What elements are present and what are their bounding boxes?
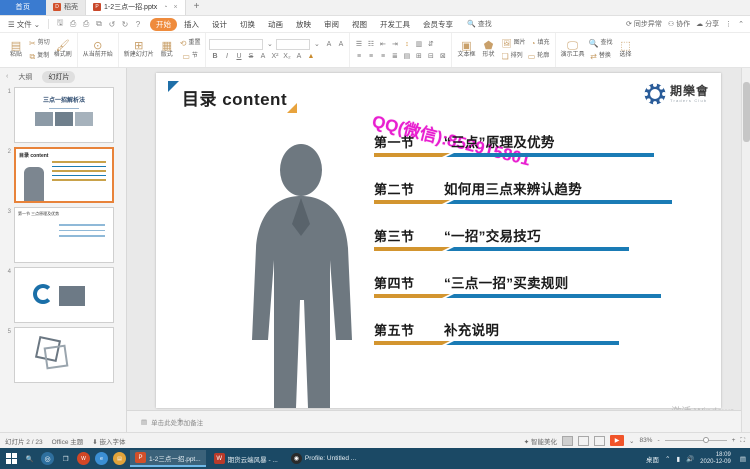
columns-icon[interactable]: ▥: [413, 39, 424, 50]
tab-developer[interactable]: 开发工具: [374, 18, 416, 31]
select-icon: ⬚: [620, 40, 630, 52]
superscript-button[interactable]: X²: [269, 51, 280, 62]
clipboard-group: ▤ 粘贴 ✂ 剪切 ⧉ 复制 🖌 格式刷: [2, 33, 77, 67]
layout-label: 版式: [161, 52, 173, 60]
notifications-icon[interactable]: ▤: [740, 455, 746, 463]
play-from-current-icon: ⊙: [93, 40, 102, 52]
tools-group: 🖵 演示工具 🔍 查找 ⇄ 替换 ⬚ 选择: [555, 33, 640, 67]
section-icon: ▭: [182, 51, 190, 63]
present-tools-label: 演示工具: [561, 52, 585, 60]
subscript-button[interactable]: X₂: [281, 51, 292, 62]
reset-button[interactable]: ⟲ 重置: [178, 38, 203, 50]
folder-pin-icon[interactable]: ▤: [112, 451, 127, 466]
windows-taskbar: 🔍 ◎ ❐ W e ▤ P 1-2三点一招.ppt... W 期货云端风暴 - …: [0, 448, 750, 469]
slide-title[interactable]: 目录 content: [182, 85, 287, 110]
toc-item[interactable]: 第四节 “三点一招”买卖规则: [374, 272, 704, 319]
brand-logo: 期樂會 Traders Club: [644, 83, 709, 105]
slide-count-label: 幻灯片 2 / 23: [5, 436, 43, 446]
doc-tab-docer[interactable]: D 稻壳: [46, 0, 86, 15]
ribbon-search[interactable]: 🔍 查找: [467, 19, 492, 29]
thumbnail-content: 目录 content: [16, 149, 112, 201]
smartart-icon[interactable]: ⊟: [425, 51, 436, 62]
find-label: 查找: [601, 40, 613, 48]
paragraph-group: ☰ ☷ ⇤ ⇥ ↕ ▥ ⇵ ≡ ≡ ≡ ≣ ▤ ⊞ ⊟ ⊠: [349, 33, 451, 67]
panel-collapse-icon[interactable]: ‹: [6, 73, 8, 80]
cut-label: 剪切: [38, 40, 50, 48]
print-preview-icon[interactable]: ⎙: [80, 18, 92, 30]
doc-tab-label: 稻壳: [64, 2, 78, 12]
toc-blue-underline: [454, 153, 654, 157]
title-bar: 首页 D 稻壳 P 1-2三点一招.pptx ◔ × +: [0, 0, 750, 16]
taskbar-item-obs[interactable]: ◉ Profile: Untitled ...: [286, 450, 361, 467]
add-notes-icon[interactable]: +: [177, 416, 183, 427]
font-row-2: B I U S A X² X₂ A ▲: [209, 51, 346, 62]
thumbnail-list: 1 三点一招解析法 2: [0, 85, 126, 432]
play-from-current-label: 从当前开始: [83, 52, 113, 60]
tab-start[interactable]: 开始: [150, 18, 177, 31]
cortana-icon[interactable]: ◎: [40, 451, 55, 466]
sorter-view-icon[interactable]: [578, 436, 589, 446]
underline-button[interactable]: U: [233, 51, 244, 62]
convert-smartart-icon[interactable]: ⊠: [437, 51, 448, 62]
logo-subtitle: Traders Club: [670, 99, 709, 103]
align-center-icon[interactable]: ≡: [365, 51, 376, 62]
present-tools-icon: 🖵: [567, 40, 578, 52]
fill-label: 填充: [538, 40, 550, 48]
decrease-indent-icon[interactable]: ⇤: [377, 39, 388, 50]
zoom-in-button[interactable]: +: [732, 437, 736, 444]
vertical-scrollbar[interactable]: [741, 68, 750, 432]
paragraph-row-1: ☰ ☷ ⇤ ⇥ ↕ ▥ ⇵: [353, 39, 448, 50]
section-reset-buttons: ⟲ 重置 ▭ 节: [178, 33, 203, 67]
section-button[interactable]: ▭ 节: [178, 51, 203, 63]
thumbnail-number: 2: [2, 147, 11, 203]
logo-name: 期樂會: [670, 85, 709, 97]
justify-icon[interactable]: ≣: [389, 51, 400, 62]
thumbnail-item[interactable]: 5: [2, 327, 126, 383]
paste-button[interactable]: ▤ 粘贴: [5, 40, 27, 60]
toc-item[interactable]: 第五节 补充说明: [374, 319, 704, 366]
thumbnail-number: 3: [2, 207, 11, 263]
toc-row: 第一节 “三点”原理及优势: [374, 131, 704, 151]
toc-section-text: 补充说明: [444, 319, 499, 339]
format-painter-icon: 🖌: [56, 40, 70, 52]
collaborate-label: 协作: [676, 19, 690, 29]
chevron-up-icon[interactable]: ⌃: [738, 20, 744, 28]
reset-icon: ⟲: [180, 38, 187, 50]
smart-beautify-button[interactable]: ✦ 智能美化: [524, 436, 557, 446]
toc-section-text: 如何用三点来辨认趋势: [444, 178, 582, 198]
new-tab-button[interactable]: +: [186, 0, 208, 15]
taskbar-clock[interactable]: 18:09 2020-12-09: [700, 452, 734, 465]
thumbnail-preview[interactable]: 第一节 三点原理及优势: [14, 207, 114, 263]
scrollbar-thumb[interactable]: [743, 82, 750, 142]
font-row-1: ⌄ ⌄ A A: [209, 39, 346, 50]
sync-label: 同步异常: [634, 19, 662, 29]
toc-row: 第四节 “三点一招”买卖规则: [374, 272, 704, 292]
taskbar-item-label: Profile: Untitled ...: [305, 455, 356, 462]
thumbnail-content: 第一节 三点原理及优势: [15, 208, 113, 262]
thumbnail-content: 三点一招解析法: [15, 88, 113, 142]
thumbnail-item[interactable]: 3 第一节 三点原理及优势: [2, 207, 126, 263]
quick-access-toolbar: 🖫 ⎙ ⎙ ⧉ ↺ ↻ ?: [52, 18, 146, 30]
browser-icon: W: [214, 453, 225, 464]
thumbnail-number: 4: [2, 267, 11, 323]
toc-blue-underline: [454, 294, 661, 298]
businessman-silhouette-icon: [234, 140, 369, 408]
copy-button[interactable]: ⧉ 复制: [27, 51, 52, 63]
outline-label: 轮廓: [537, 53, 549, 61]
thumbnail-preview[interactable]: 三点一招解析法: [14, 87, 114, 143]
toc-orange-underline: [374, 200, 442, 204]
toc-section-number: 第二节: [374, 179, 444, 198]
share-label: 分享: [705, 19, 719, 29]
wps-ppt-icon: P: [135, 452, 146, 463]
toc-item[interactable]: 第三节 “一招”交易技巧: [374, 225, 704, 272]
reset-label: 重置: [188, 40, 200, 48]
picture-button[interactable]: 🖼 图片: [500, 38, 528, 50]
play-from-current-button[interactable]: ⊙ 从当前开始: [81, 40, 115, 60]
output-pdf-icon[interactable]: ⧉: [93, 18, 105, 30]
toc-blue-underline: [454, 247, 629, 251]
help-icon[interactable]: ?: [132, 18, 144, 30]
thumbnail-content: [15, 328, 113, 382]
doc-tab-active[interactable]: P 1-2三点一招.pptx ◔ ×: [86, 0, 186, 15]
collaborate-icon: ⚇: [668, 20, 674, 28]
replace-button[interactable]: ⇄ 替换: [587, 51, 615, 63]
status-right: ✦ 智能美化 ▶ ⌄ 83% - + ⛶: [524, 435, 745, 446]
windows-start-icon[interactable]: [4, 451, 19, 466]
format-painter-button[interactable]: 🖌 格式刷: [52, 40, 74, 60]
taskbar-item-wps[interactable]: P 1-2三点一招.ppt...: [130, 450, 206, 467]
taskbar-search-icon[interactable]: 🔍: [22, 451, 37, 466]
undo-icon[interactable]: ↺: [106, 18, 118, 30]
select-label: 选择: [620, 52, 632, 60]
toc-row: 第二节 如何用三点来辨认趋势: [374, 178, 704, 198]
tab-design[interactable]: 设计: [206, 18, 233, 31]
redo-icon[interactable]: ↻: [119, 18, 131, 30]
distribute-icon[interactable]: ▤: [401, 51, 412, 62]
toc-section-number: 第五节: [374, 320, 444, 339]
picture-arrange-col: 🖼 图片 ◔ 填充 ❏ 排列 ▭ 轮廓: [500, 33, 552, 67]
slides-group: ⊞ 新建幻灯片 ▦ 版式 ⟲ 重置 ▭ 节: [118, 33, 206, 67]
line-spacing-icon[interactable]: ↕: [401, 39, 412, 50]
normal-view-icon[interactable]: [562, 436, 573, 446]
volume-icon[interactable]: 🔊: [686, 455, 694, 463]
chevron-down-icon[interactable]: ⌄: [311, 39, 322, 50]
tab-transition[interactable]: 切换: [234, 18, 261, 31]
fill-button[interactable]: ◔ 填充: [529, 38, 552, 50]
shapes-label: 形状: [482, 52, 494, 60]
sync-status[interactable]: ⟳ 同步异常: [626, 19, 662, 29]
toc-section-text: “三点一招”买卖规则: [444, 272, 569, 292]
tab-slideshow[interactable]: 放映: [290, 18, 317, 31]
clear-format-button[interactable]: A: [293, 51, 304, 62]
picture-icon: 🖼: [502, 38, 512, 50]
beautify-icon: ✦: [524, 439, 529, 446]
textbox-icon: ▣: [461, 40, 471, 52]
search-icon: 🔍: [467, 20, 476, 28]
home-button[interactable]: 首页: [0, 0, 46, 15]
arrange-label: 排列: [511, 53, 523, 61]
tab-view[interactable]: 视图: [346, 18, 373, 31]
notes-pane[interactable]: + ▤ 单击此处添加备注: [127, 410, 741, 432]
font-family-input[interactable]: [209, 39, 263, 50]
status-bar: 幻灯片 2 / 23 Office 主题 ⬇ 嵌入字体 ✦ 智能美化 ▶ ⌄ 8…: [0, 432, 750, 448]
align-right-icon[interactable]: ≡: [377, 51, 388, 62]
bullets-icon[interactable]: ☰: [353, 39, 364, 50]
ribbon-toolbar: ▤ 粘贴 ✂ 剪切 ⧉ 复制 🖌 格式刷 ⊙ 从当前开始: [0, 33, 750, 68]
doc-tab-label: 1-2三点一招.pptx: [104, 2, 157, 12]
thumbnail-number: 1: [2, 87, 11, 143]
sync-error-icon: ⟳: [626, 20, 632, 28]
toc-section-number: 第一节: [374, 132, 444, 151]
textbox-button[interactable]: ▣ 文本框: [455, 40, 477, 60]
orange-triangle-decor-icon: [287, 103, 297, 113]
fit-to-window-icon[interactable]: ⛶: [740, 437, 745, 445]
gear-flower-logo-icon: [644, 83, 666, 105]
taskbar-item-label: 期货云端风暴 - ...: [228, 454, 278, 464]
select-button[interactable]: ⬚ 选择: [615, 40, 637, 60]
search-label: 查找: [478, 19, 492, 29]
wps-doc-icon: D: [53, 3, 61, 11]
section-label: 节: [192, 53, 198, 61]
thumbnail-item[interactable]: 4: [2, 267, 126, 323]
thumbnail-content: [15, 268, 113, 322]
toc-blue-underline: [454, 200, 672, 204]
italic-button[interactable]: I: [221, 51, 232, 62]
toc-orange-underline: [374, 341, 442, 345]
taskbar-item-label: 1-2三点一招.ppt...: [149, 453, 201, 463]
thumbnail-title: 第一节 三点原理及优势: [18, 211, 110, 217]
slide-editor: 目录 content: [127, 68, 750, 432]
file-menu-button[interactable]: ☰ 文件 ⌄: [3, 19, 45, 30]
font-group: ⌄ ⌄ A A B I U S A X² X₂ A ▲: [205, 33, 349, 67]
slideshow-group: ⊙ 从当前开始: [77, 33, 118, 67]
share-button[interactable]: ☁ 分享: [696, 19, 719, 29]
slide-thumbnail-panel: ‹ 大纲 幻灯片 1 三点一招解析法: [0, 68, 127, 432]
find-icon: 🔍: [589, 38, 599, 50]
paste-icon: ▤: [11, 40, 21, 52]
hamburger-icon: ☰: [8, 20, 15, 29]
new-slide-label: 新建幻灯片: [124, 52, 154, 60]
text-direction-icon[interactable]: ⇵: [425, 39, 436, 50]
theme-label[interactable]: Office 主题: [52, 436, 84, 446]
tab-outline[interactable]: 大纲: [14, 71, 36, 83]
strikethrough-button[interactable]: S: [245, 51, 256, 62]
thumbnail-title: 三点一招解析法: [18, 95, 110, 104]
zoom-level-label: 83%: [639, 437, 652, 444]
ribbon-tab-bar: ☰ 文件 ⌄ 🖫 ⎙ ⎙ ⧉ ↺ ↻ ? 开始 插入 设计 切换 动画 放映 审…: [0, 16, 750, 33]
clipboard-small-buttons: ✂ 剪切 ⧉ 复制: [27, 33, 52, 67]
toc-item[interactable]: 第一节 “三点”原理及优势: [374, 131, 704, 178]
shapes-button[interactable]: ⬟ 形状: [478, 40, 500, 60]
new-slide-icon: ⊞: [134, 40, 143, 52]
align-left-icon[interactable]: ≡: [353, 51, 364, 62]
more-vertical-icon[interactable]: ⋮: [725, 20, 732, 28]
align-text-icon[interactable]: ⊞: [413, 51, 424, 62]
tab-member[interactable]: 会员专享: [417, 18, 459, 31]
fill-icon: ◔: [531, 38, 536, 50]
browser-pin-icon[interactable]: e: [94, 451, 109, 466]
replace-label: 替换: [599, 53, 611, 61]
arrange-row: ❏ 排列 ▭ 轮廓: [500, 51, 552, 63]
ribbon-tabs: 开始 插入 设计 切换 动画 放映 审阅 视图 开发工具 会员专享: [150, 18, 459, 31]
toc-section-number: 第三节: [374, 226, 444, 245]
cut-icon: ✂: [29, 38, 36, 50]
insert-group: ▣ 文本框 ⬟ 形状 🖼 图片 ◔ 填充: [451, 33, 554, 67]
zoom-out-button[interactable]: -: [657, 437, 659, 444]
clock-date: 2020-12-09: [700, 459, 731, 466]
replace-icon: ⇄: [590, 51, 597, 63]
zoom-slider-knob[interactable]: [703, 437, 709, 443]
numbering-icon[interactable]: ☷: [365, 39, 376, 50]
app-pin-icon[interactable]: W: [76, 451, 91, 466]
thumbnail-title: 目录 content: [19, 152, 109, 159]
shrink-font-icon[interactable]: A: [335, 39, 346, 50]
present-tools-button[interactable]: 🖵 演示工具: [559, 40, 587, 60]
picture-row: 🖼 图片 ◔ 填充: [500, 38, 552, 50]
increase-indent-icon[interactable]: ⇥: [389, 39, 400, 50]
highlight-icon[interactable]: ▲: [305, 51, 316, 62]
logo-text: 期樂會 Traders Club: [670, 85, 709, 103]
bold-button[interactable]: B: [209, 51, 220, 62]
blue-triangle-decor-icon: [168, 81, 179, 92]
network-icon[interactable]: ▮: [676, 455, 680, 463]
toc-orange-underline: [374, 153, 442, 157]
ribbon-right-actions: ⟳ 同步异常 ⚇ 协作 ☁ 分享 ⋮ ⌃: [626, 19, 750, 29]
desktop-label[interactable]: 桌面: [646, 454, 659, 464]
paragraph-row-2: ≡ ≡ ≡ ≣ ▤ ⊞ ⊟ ⊠: [353, 51, 448, 62]
reading-view-icon[interactable]: [594, 436, 605, 446]
toc-section-text: “三点”原理及优势: [444, 131, 555, 151]
slideshow-play-icon[interactable]: ▶: [610, 435, 624, 446]
toc-orange-underline: [374, 247, 442, 251]
chevron-down-icon[interactable]: ⌄: [264, 39, 275, 50]
thumbnail-item-selected[interactable]: 2 目录 content: [2, 147, 126, 203]
save-icon[interactable]: 🖫: [54, 18, 66, 30]
toc-item[interactable]: 第二节 如何用三点来辨认趋势: [374, 178, 704, 225]
thumbnail-preview[interactable]: 目录 content: [14, 147, 114, 203]
textbox-label: 文本框: [457, 52, 475, 60]
toc-blue-underline: [454, 341, 619, 345]
workspace: ‹ 大纲 幻灯片 1 三点一招解析法: [0, 68, 750, 432]
cut-button[interactable]: ✂ 剪切: [27, 38, 52, 50]
outline-icon: ▭: [528, 51, 536, 63]
thumbnail-number: 5: [2, 327, 11, 383]
clock-icon[interactable]: ◔: [163, 4, 167, 11]
file-menu-label: 文件: [17, 19, 32, 30]
panel-tabs: ‹ 大纲 幻灯片: [0, 68, 126, 85]
obs-icon: ◉: [291, 453, 302, 464]
font-rows: ⌄ ⌄ A A B I U S A X² X₂ A ▲: [209, 33, 346, 67]
task-view-icon[interactable]: ❐: [58, 451, 73, 466]
toc-section-text: “一招”交易技巧: [444, 225, 541, 245]
toc-section-number: 第四节: [374, 273, 444, 292]
find-button[interactable]: 🔍 查找: [587, 38, 615, 50]
layout-button[interactable]: ▦ 版式: [156, 40, 178, 60]
layout-icon: ▦: [162, 40, 172, 52]
shapes-icon: ⬟: [484, 40, 494, 52]
outline-button[interactable]: ▭ 轮廓: [526, 51, 552, 63]
taskbar-item-browser[interactable]: W 期货云端风暴 - ...: [209, 450, 283, 467]
copy-label: 复制: [37, 53, 49, 61]
tab-review[interactable]: 审阅: [318, 18, 345, 31]
new-slide-button[interactable]: ⊞ 新建幻灯片: [122, 40, 156, 60]
text-shadow-button[interactable]: A: [257, 51, 268, 62]
arrange-icon: ❏: [502, 51, 509, 63]
play-dropdown-icon[interactable]: ⌄: [629, 437, 634, 445]
clock-time: 18:09: [700, 452, 731, 459]
picture-label: 图片: [514, 40, 526, 48]
tab-animation[interactable]: 动画: [262, 18, 289, 31]
grow-font-icon[interactable]: A: [323, 39, 334, 50]
wps-presentation-window: 首页 D 稻壳 P 1-2三点一招.pptx ◔ × + ☰ 文件 ⌄ 🖫 ⎙ …: [0, 0, 750, 469]
chevron-down-icon: ⌄: [34, 20, 40, 29]
tab-insert[interactable]: 插入: [178, 18, 205, 31]
print-icon[interactable]: ⎙: [67, 18, 79, 30]
toc-orange-underline: [374, 294, 442, 298]
notes-icon: ▤: [141, 418, 147, 426]
embed-font-button[interactable]: ⬇ 嵌入字体: [92, 436, 125, 446]
copy-icon: ⧉: [29, 51, 35, 63]
font-size-input[interactable]: [276, 39, 310, 50]
share-icon: ☁: [696, 20, 703, 28]
tab-slides[interactable]: 幻灯片: [42, 71, 75, 83]
thumbnail-preview[interactable]: [14, 267, 114, 323]
paragraph-rows: ☰ ☷ ⇤ ⇥ ↕ ▥ ⇵ ≡ ≡ ≡ ≣ ▤ ⊞ ⊟ ⊠: [353, 33, 448, 67]
font-embed-icon: ⬇: [92, 439, 97, 446]
table-of-contents: 第一节 “三点”原理及优势 第二节 如何用三点来辨认趋势: [374, 131, 704, 366]
find-replace-col: 🔍 查找 ⇄ 替换: [587, 33, 615, 67]
arrange-button[interactable]: ❏ 排列: [500, 51, 525, 63]
divider: [48, 19, 49, 29]
close-icon[interactable]: ×: [174, 4, 178, 11]
thumbnail-item[interactable]: 1 三点一招解析法: [2, 87, 126, 143]
toc-row: 第三节 “一招”交易技巧: [374, 225, 704, 245]
ppt-file-icon: P: [93, 3, 101, 11]
format-painter-label: 格式刷: [54, 52, 72, 60]
slide-canvas[interactable]: 目录 content: [156, 73, 721, 408]
tray-expand-icon[interactable]: ⌃: [665, 455, 670, 463]
collaborate-button[interactable]: ⚇ 协作: [668, 19, 690, 29]
zoom-slider[interactable]: [665, 440, 727, 441]
toc-row: 第五节 补充说明: [374, 319, 704, 339]
thumbnail-preview[interactable]: [14, 327, 114, 383]
paste-label: 粘贴: [10, 52, 22, 60]
